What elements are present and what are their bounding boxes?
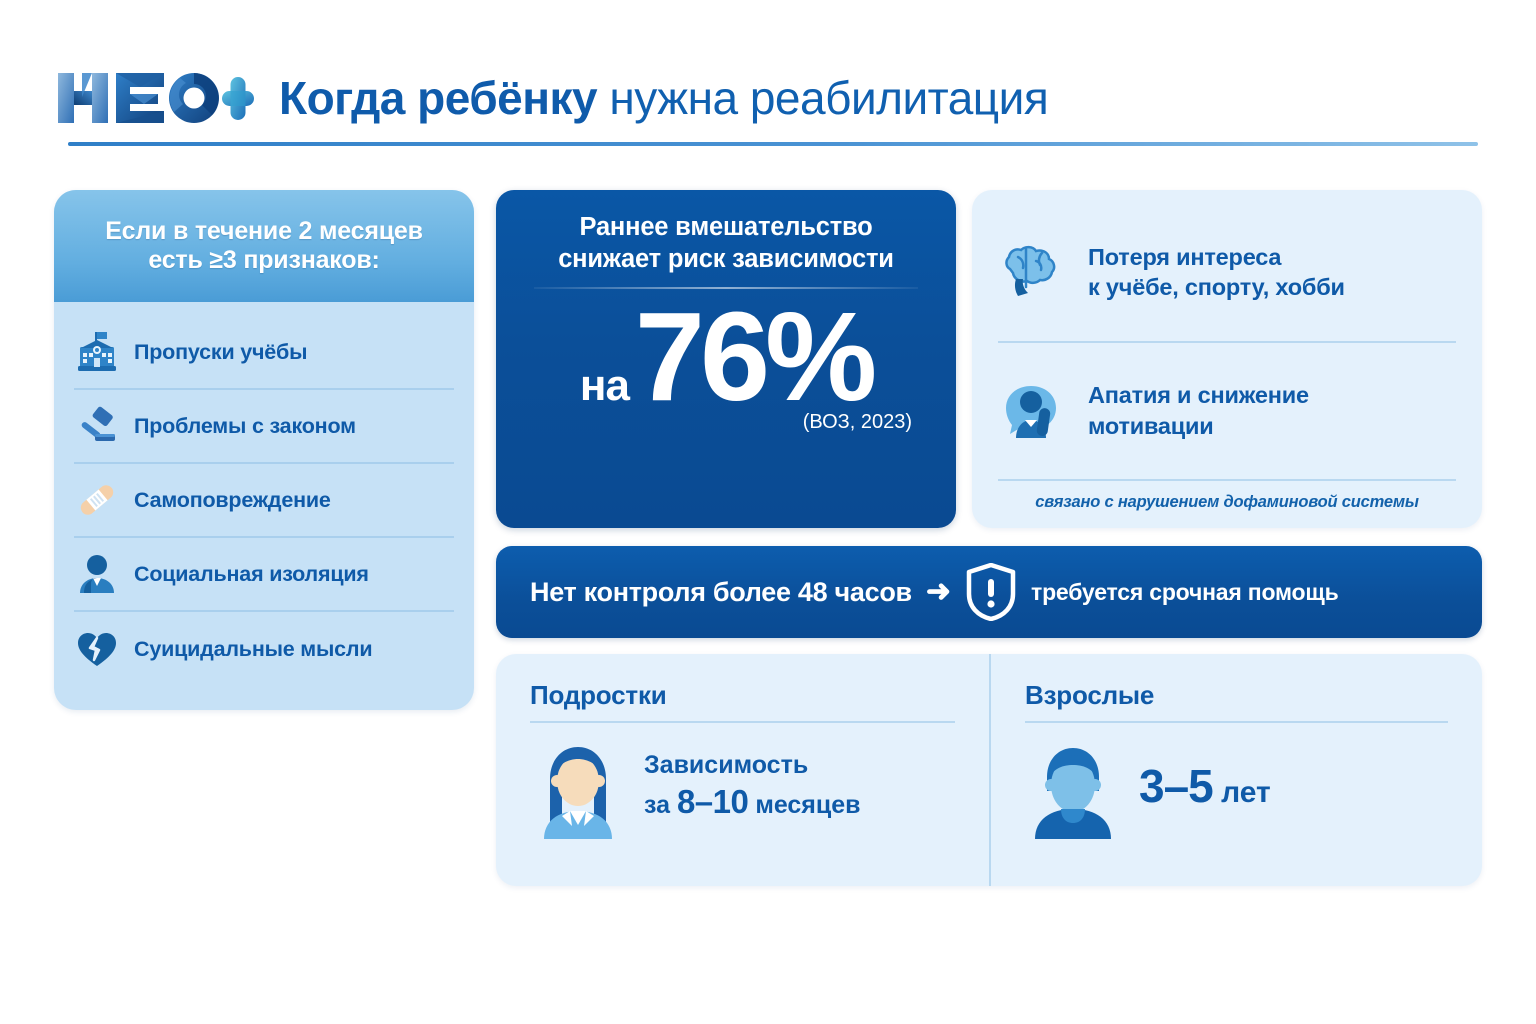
- symptom-line1: Апатия и снижение: [1088, 382, 1309, 408]
- warning-signs-header: Если в течение 2 месяцев есть ≥3 признак…: [54, 190, 474, 302]
- adults-divider: [1025, 721, 1448, 723]
- stat-figure: на 76%: [522, 297, 930, 417]
- arrow-right-icon: ➜: [926, 577, 951, 607]
- stat-value: 76%: [635, 297, 872, 417]
- list-item-label: Проблемы с законом: [134, 414, 356, 439]
- list-item[interactable]: Потеря интереса к учёбе, спорту, хобби: [998, 208, 1456, 337]
- page-title: Когда ребёнку нужна реабилитация: [279, 75, 1048, 121]
- adults-value-text: 3–5 лет: [1139, 759, 1271, 813]
- adults-unit: лет: [1213, 776, 1271, 809]
- broken-heart-icon: [74, 626, 120, 672]
- warning-signs-panel: Если в течение 2 месяцев есть ≥3 признак…: [54, 190, 474, 710]
- time-to-dependence-panel: Подростки Зависимость: [496, 654, 1482, 886]
- symptoms-note: связано с нарушением дофаминовой системы: [998, 485, 1456, 516]
- symptom-line2: к учёбе, спорту, хобби: [1088, 274, 1345, 300]
- list-item[interactable]: Пропуски учёбы: [74, 316, 454, 390]
- adults-title: Взрослые: [1025, 680, 1448, 711]
- header-divider: [68, 142, 1478, 146]
- list-item-label: Самоповреждение: [134, 488, 331, 513]
- stat-prefix: на: [580, 361, 629, 411]
- infographic-canvas: Когда ребёнку нужна реабилитация Если в …: [0, 0, 1536, 1024]
- brain-icon: [998, 239, 1070, 305]
- list-item[interactable]: Проблемы с законом: [74, 390, 454, 464]
- teens-divider: [530, 721, 955, 723]
- adults-body: 3–5 лет: [1025, 733, 1448, 839]
- page-header: Когда ребёнку нужна реабилитация: [52, 48, 1482, 148]
- page-title-light: нужна реабилитация: [597, 72, 1048, 124]
- urgent-help-banner: Нет контроля более 48 часов ➜ требуется …: [496, 546, 1482, 638]
- list-item-label: Апатия и снижение мотивации: [1088, 380, 1309, 441]
- teens-value: 8–10: [677, 783, 748, 820]
- teens-line2: за 8–10 месяцев: [644, 781, 861, 823]
- teens-unit: месяцев: [748, 791, 860, 819]
- alert-condition-text: Нет контроля более 48 часов: [530, 577, 912, 608]
- apathy-person-icon: [998, 378, 1070, 444]
- adults-value: 3–5: [1139, 760, 1213, 812]
- adults-column: Взрослые 3–5 лет: [989, 654, 1482, 886]
- bandage-icon: [74, 477, 120, 523]
- page-title-bold: Когда ребёнку: [279, 72, 597, 124]
- teens-text: Зависимость за 8–10 месяцев: [644, 749, 861, 823]
- symptom-line1: Потеря интереса: [1088, 244, 1281, 270]
- warning-signs-heading-line2: есть ≥3 признаков:: [148, 246, 379, 276]
- alert-shield-icon: [965, 563, 1017, 621]
- person-icon: [74, 551, 120, 597]
- list-item[interactable]: Социальная изоляция: [74, 538, 454, 612]
- stat-heading-line1: Раннее вмешательство: [522, 212, 930, 244]
- list-item[interactable]: Суицидальные мысли: [74, 612, 454, 686]
- list-item[interactable]: Апатия и снижение мотивации: [998, 347, 1456, 476]
- adult-man-icon: [1025, 733, 1121, 839]
- teens-prefix: за: [644, 791, 677, 819]
- warning-signs-list: Пропуски учёбы Проблемы с законом: [54, 302, 474, 704]
- warning-signs-heading-line1: Если в течение 2 месяцев: [105, 217, 423, 247]
- list-item-label: Потеря интереса к учёбе, спорту, хобби: [1088, 242, 1345, 303]
- school-building-icon: [74, 329, 120, 375]
- teen-girl-icon: [530, 733, 626, 839]
- list-item-label: Суицидальные мысли: [134, 637, 372, 662]
- alert-action-text: требуется срочная помощь: [1031, 579, 1339, 606]
- teens-line1: Зависимость: [644, 749, 861, 781]
- gavel-icon: [74, 403, 120, 449]
- symptom-line2: мотивации: [1088, 413, 1214, 439]
- teens-body: Зависимость за 8–10 месяцев: [530, 733, 955, 839]
- symptoms-panel: Потеря интереса к учёбе, спорту, хобби А…: [972, 190, 1482, 528]
- stat-heading: Раннее вмешательство снижает риск зависи…: [522, 212, 930, 275]
- neo-plus-logo: [52, 67, 257, 129]
- list-item-label: Пропуски учёбы: [134, 340, 307, 365]
- symptoms-divider-1: [998, 341, 1456, 343]
- teens-column: Подростки Зависимость: [496, 654, 989, 886]
- symptoms-divider-2: [998, 479, 1456, 481]
- list-item-label: Социальная изоляция: [134, 562, 369, 587]
- teens-title: Подростки: [530, 680, 955, 711]
- list-item[interactable]: Самоповреждение: [74, 464, 454, 538]
- stat-heading-line2: снижает риск зависимости: [522, 244, 930, 276]
- early-intervention-stat-panel: Раннее вмешательство снижает риск зависи…: [496, 190, 956, 528]
